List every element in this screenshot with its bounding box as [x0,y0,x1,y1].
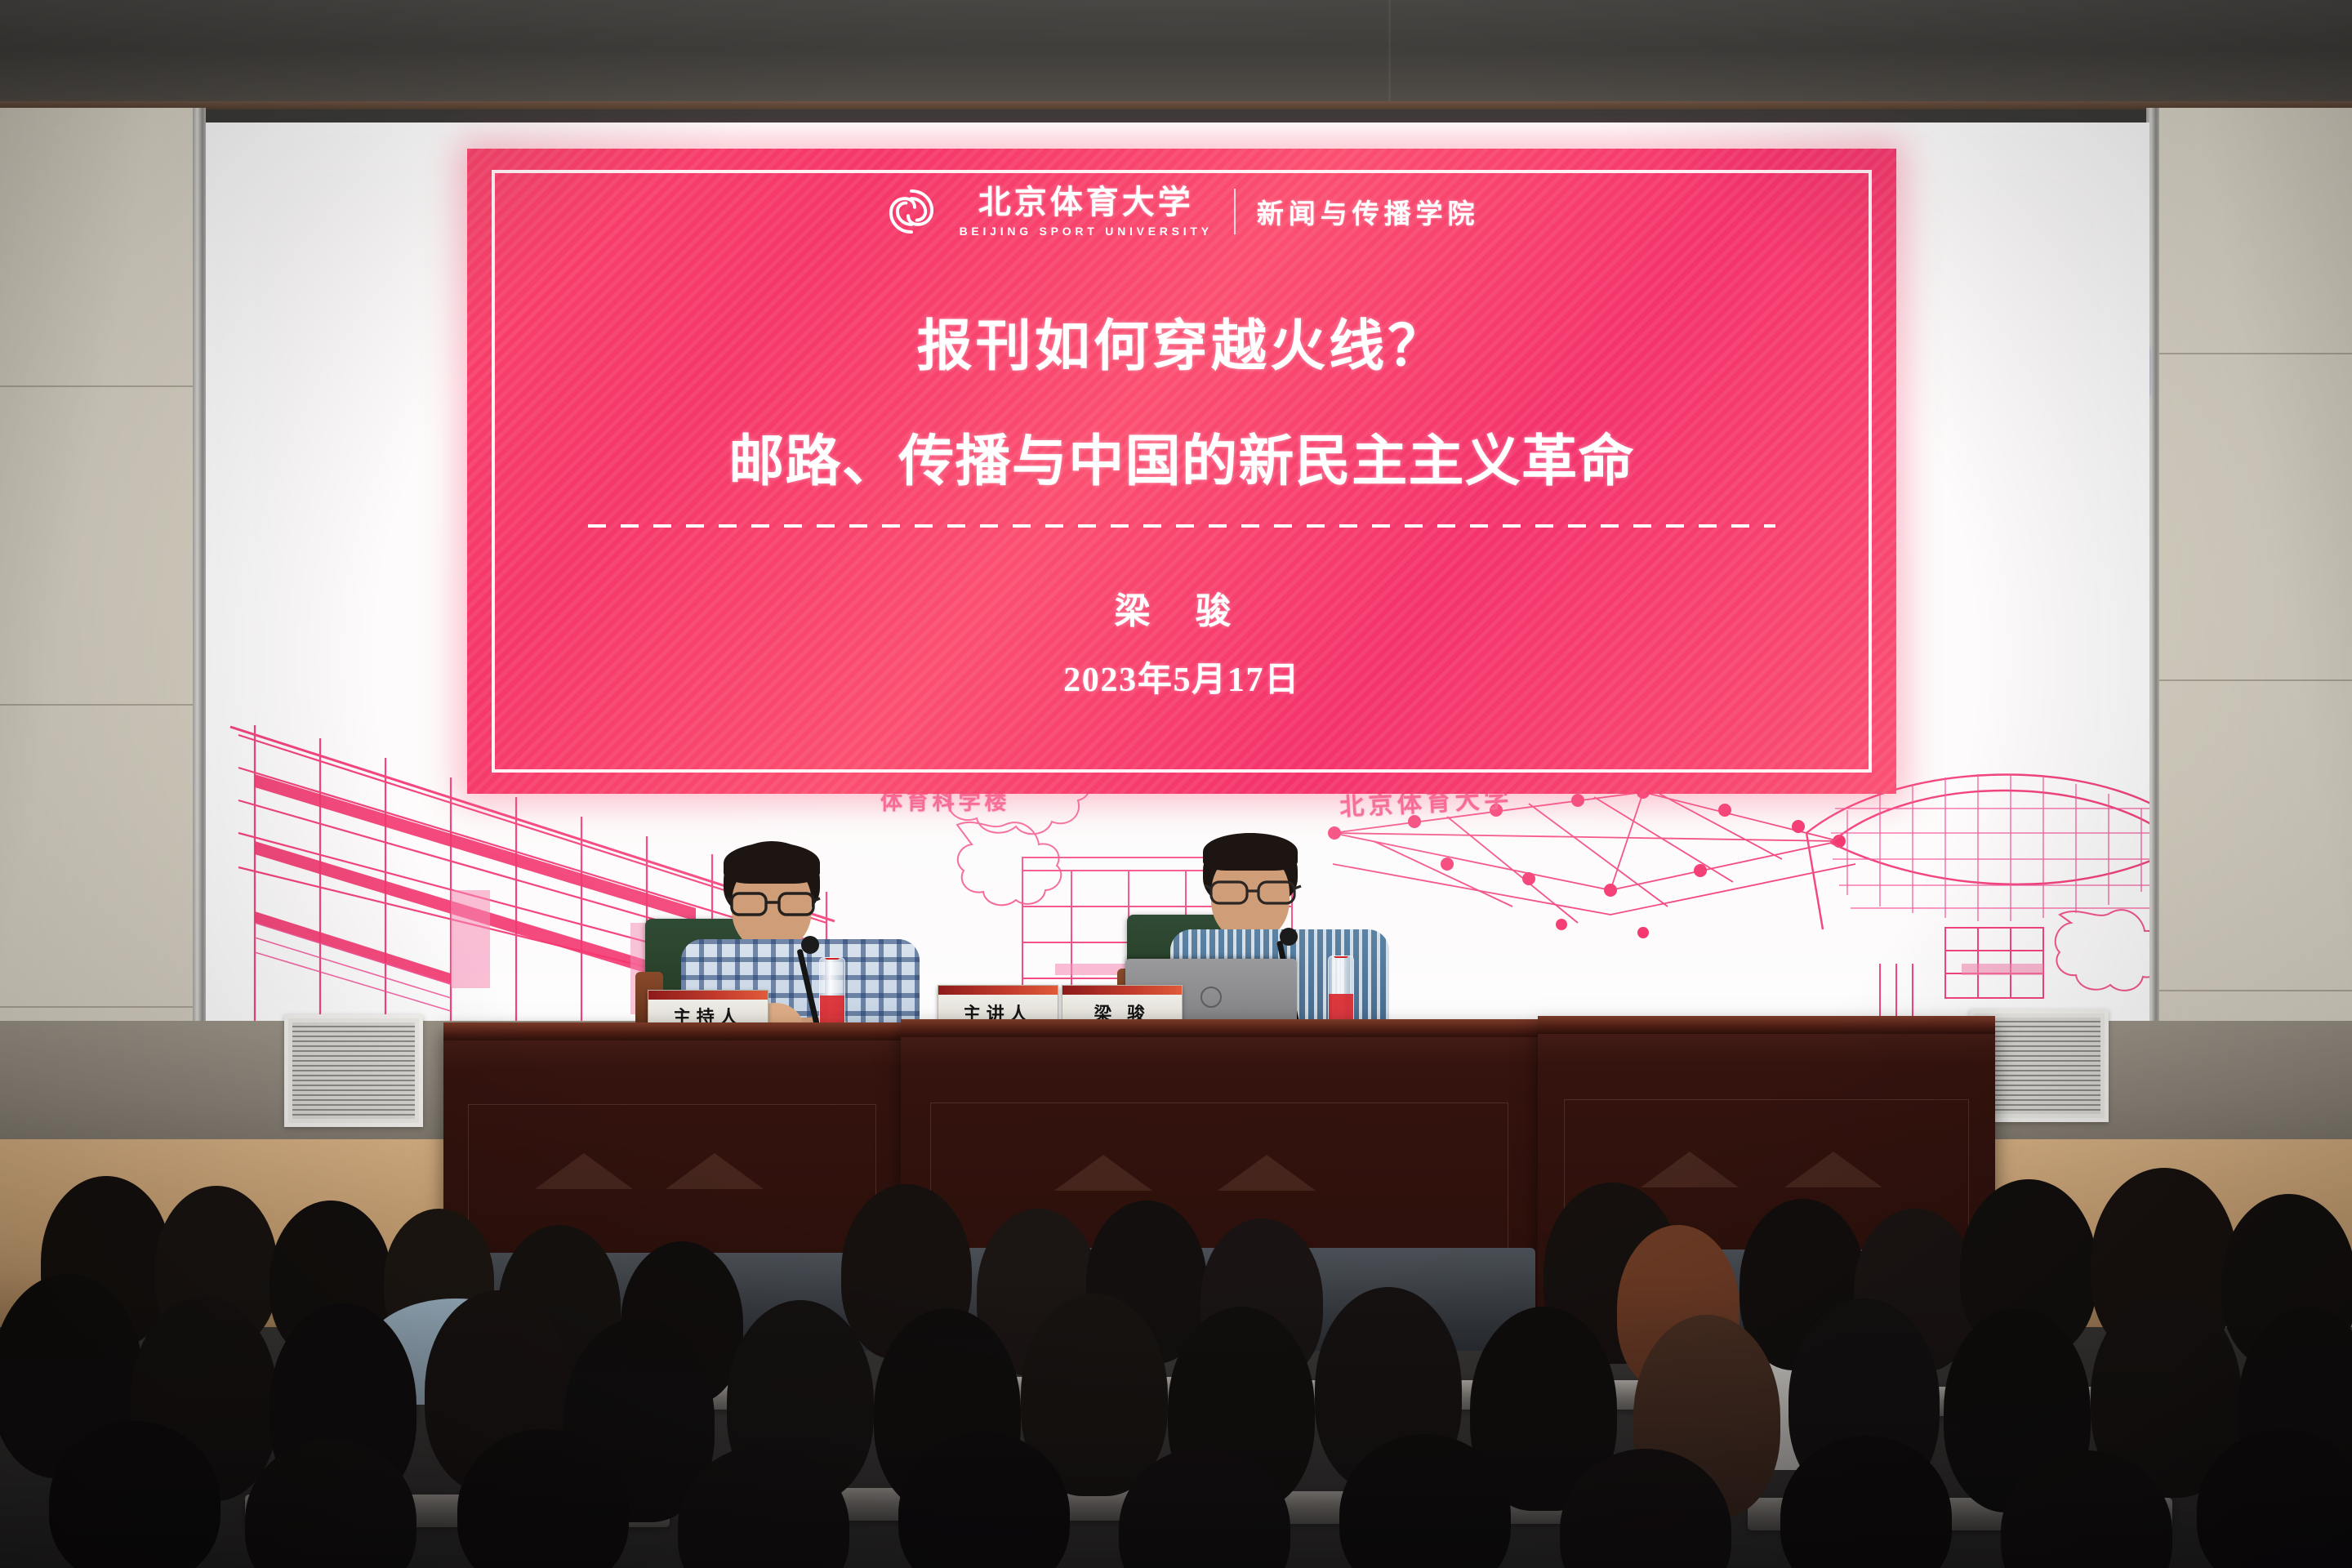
moderator-glasses-icon [727,889,822,918]
university-wordmark: 北京体育大学 BEIJING SPORT UNIVERSITY [960,186,1213,237]
dell-logo-icon [1200,987,1222,1008]
wall-seam [2148,353,2352,354]
bottle-label [820,996,844,1023]
slide-dashed-divider [588,524,1775,528]
slide-date: 2023年5月17日 [467,652,1896,702]
wall-seam [2148,679,2352,681]
logo-divider [1234,189,1236,234]
slide-logo-row: 北京体育大学 BEIJING SPORT UNIVERSITY 新闻与传播学院 [467,185,1896,238]
podium-chevron [1054,1155,1152,1191]
slide-speaker-name: 梁 骏 [467,581,1896,634]
spiral-logo-icon [884,185,938,238]
podium-top-edge [443,1022,901,1040]
wall-seam [0,704,206,706]
wall-seam [2148,990,2352,991]
podium-chevron [666,1153,764,1189]
wall-seam [0,1006,206,1008]
slide-title-line-1: 报刊如何穿越火线？ [467,301,1896,381]
bottle-cap [1334,955,1348,958]
microphone-right-head [1280,928,1298,946]
slide-title-line-2: 邮路、传播与中国的新民主主义革命 [467,416,1896,497]
school-name-cn: 新闻与传播学院 [1257,192,1480,231]
lecturer-glasses-icon [1205,877,1303,906]
slide-title-block: 报刊如何穿越火线？ 邮路、传播与中国的新民主主义革命 [467,301,1896,497]
nameplate-accent-bar [938,986,1058,995]
microphone-left-head [801,936,819,954]
bottle-label [1329,994,1353,1022]
mullion-left [193,108,206,1145]
bottle-cap [825,957,840,960]
podium-top-edge [901,1019,1538,1037]
presentation-slide: 北京体育大学 BEIJING SPORT UNIVERSITY 新闻与传播学院 … [467,149,1896,794]
podium-chevron [1641,1151,1739,1187]
lecture-hall-photo: 体育科学楼 北京体育大学 北京体育大学 BEIJING SPORT UNIVER… [0,0,2352,1568]
podium-chevron [535,1153,633,1189]
water-bottle-left [819,957,845,1029]
ceiling-soffit [0,0,2352,108]
university-name-en: BEIJING SPORT UNIVERSITY [960,225,1213,237]
podium-chevron [1784,1151,1882,1187]
moderator-fringe [724,843,820,884]
nameplate-accent-bar [1062,986,1182,995]
lecturer-fringe [1203,833,1298,871]
hvac-vent-left [284,1014,423,1127]
nameplate-accent-bar [648,991,768,1000]
water-bottle-right [1328,955,1354,1027]
podium-chevron [1218,1155,1316,1191]
wall-left-stone [0,108,206,1145]
ceiling-trim [0,101,2352,109]
university-name-cn: 北京体育大学 [978,186,1194,219]
wall-right-stone [2148,108,2352,1145]
wall-seam [0,385,206,387]
podium-top-edge [1538,1016,1995,1034]
